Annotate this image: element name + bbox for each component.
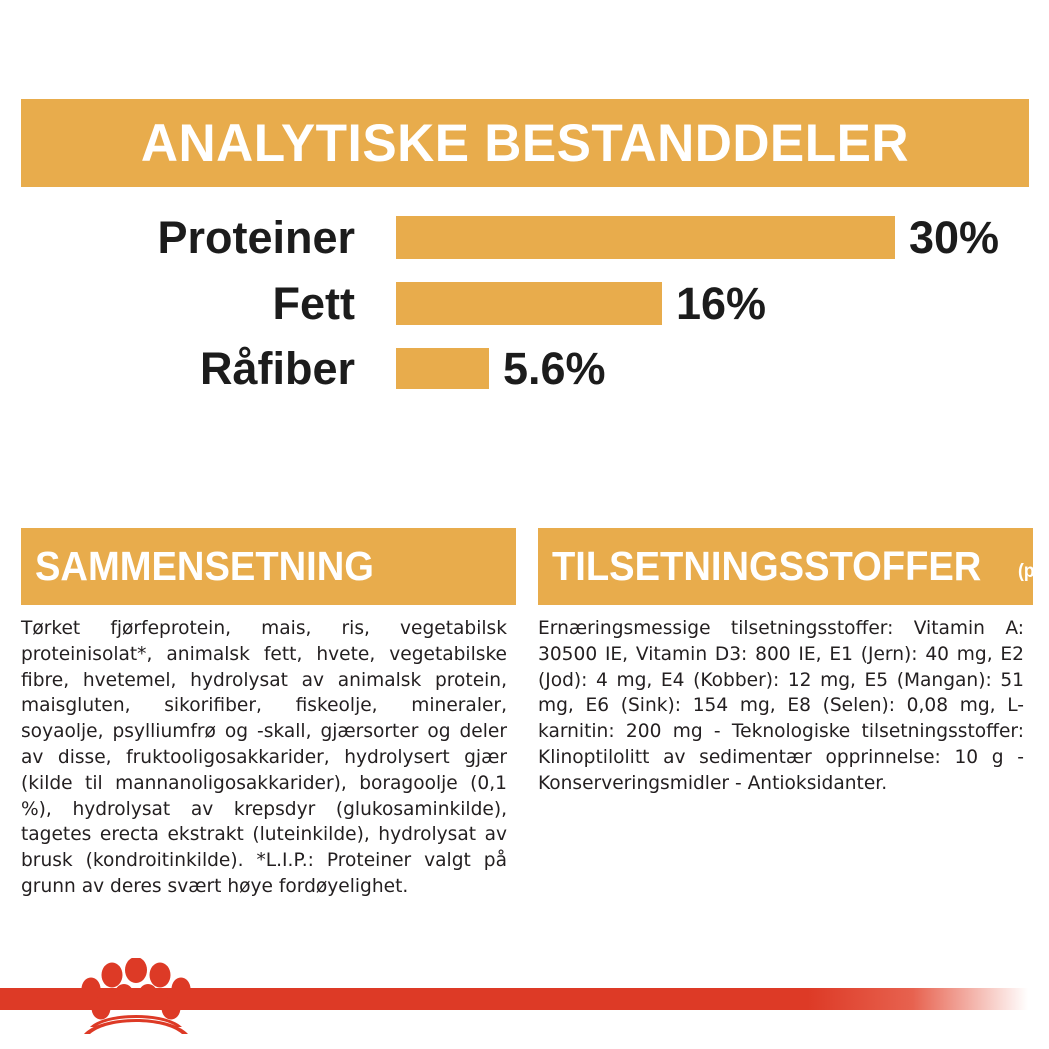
chart-bar-value: 5.6% — [503, 346, 606, 391]
composition-heading: SAMMENSETNING — [35, 546, 374, 587]
chart-bar-group: 16% — [396, 281, 766, 326]
composition-body: Tørket fjørfeprotein, mais, ris, vegetab… — [21, 616, 507, 900]
chart-row: Proteiner 30% — [0, 206, 1049, 268]
chart-bar-value: 16% — [676, 281, 766, 326]
chart-row: Råfiber 5.6% — [0, 337, 1049, 399]
chart-row: Fett 16% — [0, 272, 1049, 334]
additives-heading-unit: (pr. kg) — [1018, 562, 1033, 581]
additives-text: Ernæringsmessige tilsetningsstoffer: Vit… — [538, 616, 1024, 797]
analytical-constituents-chart: Proteiner 30% Fett 16% Råfiber 5.6% — [0, 206, 1049, 396]
additives-body: Ernæringsmessige tilsetningsstoffer: Vit… — [538, 616, 1024, 797]
royal-canin-crown-logo — [76, 958, 196, 1036]
chart-bar-group: 5.6% — [396, 346, 606, 391]
product-info-panel: ANALYTISKE BESTANDDELER Proteiner 30% Fe… — [0, 0, 1049, 1049]
chart-bar — [396, 216, 895, 259]
analytical-constituents-banner: ANALYTISKE BESTANDDELER — [21, 99, 1029, 187]
composition-column: SAMMENSETNING Tørket fjørfeprotein, mais… — [21, 528, 516, 900]
chart-bar-label: Fett — [0, 281, 355, 326]
additives-heading-bar: TILSETNINGSSTOFFER (pr. kg) — [538, 528, 1033, 605]
additives-column: TILSETNINGSSTOFFER (pr. kg) Ernæringsmes… — [538, 528, 1033, 797]
chart-bar — [396, 282, 662, 325]
additives-heading: TILSETNINGSSTOFFER — [552, 546, 981, 587]
page-title: ANALYTISKE BESTANDDELER — [141, 117, 909, 170]
chart-bar — [396, 348, 489, 389]
composition-heading-bar: SAMMENSETNING — [21, 528, 516, 605]
chart-bar-value: 30% — [909, 215, 999, 260]
chart-bar-label: Råfiber — [0, 346, 355, 391]
chart-bar-label: Proteiner — [0, 215, 355, 260]
composition-text: Tørket fjørfeprotein, mais, ris, vegetab… — [21, 616, 507, 900]
chart-bar-group: 30% — [396, 215, 999, 260]
crown-icon — [76, 958, 196, 1036]
